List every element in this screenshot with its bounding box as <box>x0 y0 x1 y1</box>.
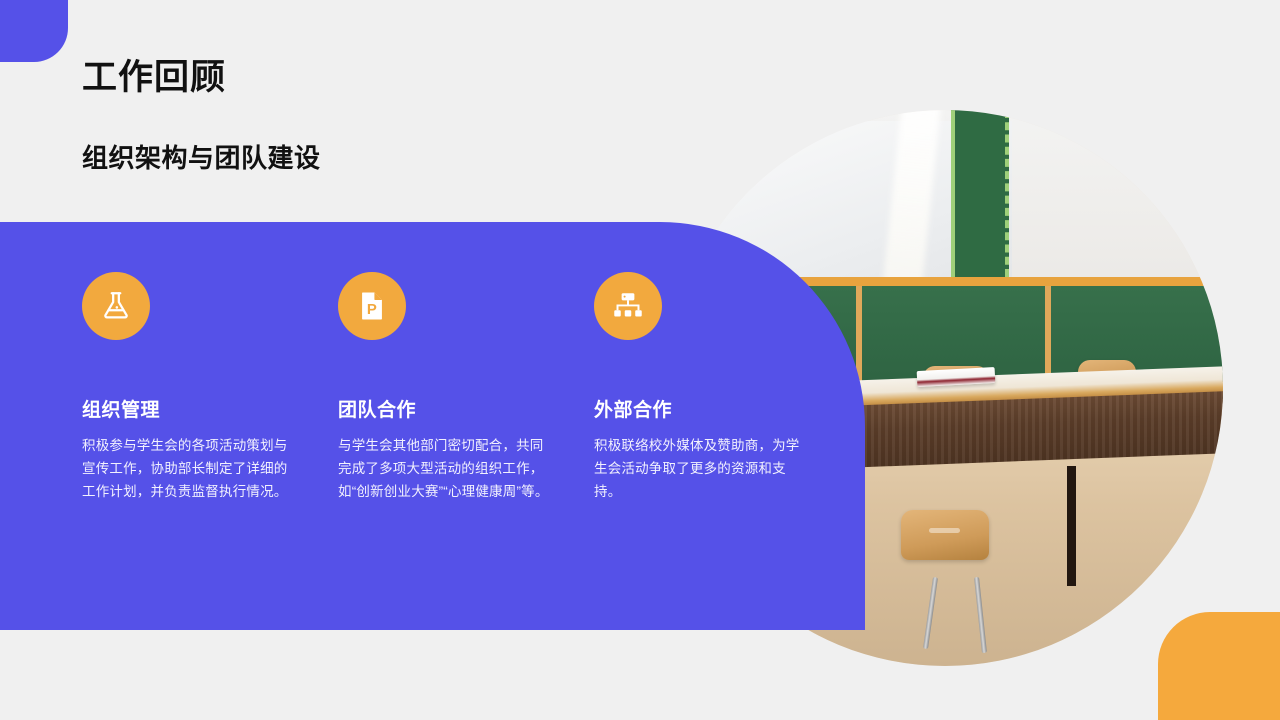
feature-title: 外部合作 <box>594 395 806 422</box>
feature-column-teamwork: P 团队合作 与学生会其他部门密切配合，共同完成了多项大型活动的组织工作，如“创… <box>338 272 550 504</box>
feature-title: 组织管理 <box>82 395 294 422</box>
feature-body: 积极参与学生会的各项活动策划与宣传工作，协助部长制定了详细的工作计划，并负责监督… <box>82 434 294 504</box>
feature-columns: 组织管理 积极参与学生会的各项活动策划与宣传工作，协助部长制定了详细的工作计划，… <box>82 272 812 504</box>
flask-icon-badge <box>82 272 150 340</box>
feature-column-organization: 组织管理 积极参与学生会的各项活动策划与宣传工作，协助部长制定了详细的工作计划，… <box>82 272 294 504</box>
presentation-file-icon-badge: P <box>338 272 406 340</box>
feature-title: 团队合作 <box>338 395 550 422</box>
flask-icon <box>99 289 133 323</box>
page-title: 工作回顾 <box>82 58 321 98</box>
presentation-file-icon: P <box>355 289 389 323</box>
presentation-slide: 工作回顾 组织架构与团队建设 组织管理 积极参与学生会的各项活动策划与宣传工作，… <box>0 0 1280 720</box>
svg-text:P: P <box>367 302 377 318</box>
feature-column-external: 外部合作 积极联络校外媒体及赞助商，为学生会活动争取了更多的资源和支持。 <box>594 272 806 504</box>
bottom-right-orange-decoration <box>1158 612 1280 720</box>
feature-body: 与学生会其他部门密切配合，共同完成了多项大型活动的组织工作，如“创新创业大赛”“… <box>338 434 550 504</box>
org-chart-icon-badge <box>594 272 662 340</box>
org-chart-icon <box>611 289 645 323</box>
top-left-purple-decoration <box>0 0 68 62</box>
feature-body: 积极联络校外媒体及赞助商，为学生会活动争取了更多的资源和支持。 <box>594 434 806 504</box>
heading-block: 工作回顾 组织架构与团队建设 <box>82 58 321 174</box>
page-subtitle: 组织架构与团队建设 <box>82 144 321 174</box>
